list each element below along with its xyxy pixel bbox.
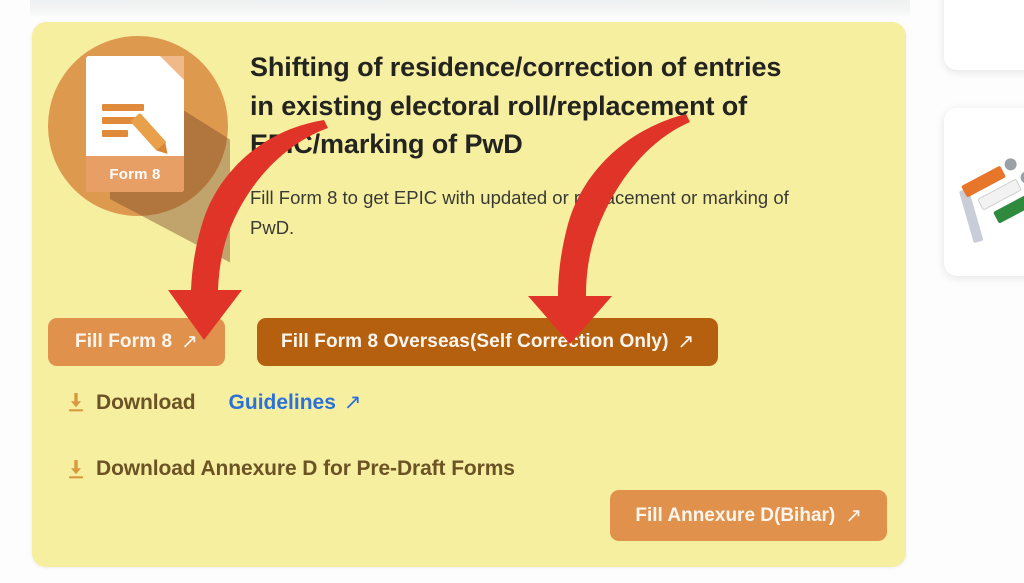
page-root: Form 8 Shifting of residence/correction … bbox=[0, 0, 1024, 583]
form-8-document-icon: Form 8 bbox=[48, 36, 240, 228]
download-annexure-row: Download Annexure D for Pre-Draft Forms bbox=[68, 457, 515, 481]
side-card-blue-icon[interactable] bbox=[944, 0, 1024, 70]
download-annexure-link[interactable]: Download Annexure D for Pre-Draft Forms bbox=[68, 457, 515, 481]
primary-action-row: Fill Form 8 ↗ Fill Form 8 Overseas(Self … bbox=[48, 318, 718, 366]
form-8-card: Form 8 Shifting of residence/correction … bbox=[32, 22, 906, 567]
guidelines-link-label: Guidelines bbox=[229, 391, 336, 415]
form-8-label: Form 8 bbox=[109, 166, 160, 183]
guidelines-link[interactable]: Guidelines ↗ bbox=[229, 390, 362, 415]
fill-annexure-d-bihar-button-label: Fill Annexure D(Bihar) bbox=[635, 505, 835, 527]
eci-logo-icon bbox=[951, 137, 1024, 249]
card-content: Shifting of residence/correction of entr… bbox=[250, 48, 810, 243]
download-annexure-link-label: Download Annexure D for Pre-Draft Forms bbox=[96, 457, 515, 481]
document-shape: Form 8 bbox=[86, 56, 184, 192]
eci-logo-dot-1 bbox=[1003, 156, 1019, 172]
fill-form-8-overseas-button[interactable]: Fill Form 8 Overseas(Self Correction Onl… bbox=[257, 318, 718, 366]
fill-form-8-button-label: Fill Form 8 bbox=[75, 331, 172, 353]
top-gray-band bbox=[30, 0, 910, 16]
external-link-arrow-icon: ↗ bbox=[845, 503, 862, 528]
download-link[interactable]: Download bbox=[68, 391, 196, 415]
external-link-arrow-icon: ↗ bbox=[678, 332, 695, 352]
download-icon bbox=[68, 460, 84, 479]
external-link-arrow-icon: ↗ bbox=[344, 390, 362, 415]
download-link-label: Download bbox=[96, 391, 196, 415]
download-links-row: Download Guidelines ↗ bbox=[68, 390, 362, 415]
download-icon bbox=[68, 393, 84, 412]
external-link-arrow-icon: ↗ bbox=[181, 332, 198, 352]
form-8-label-band: Form 8 bbox=[86, 156, 184, 192]
card-description: Fill Form 8 to get EPIC with updated or … bbox=[250, 183, 795, 243]
fill-form-8-button[interactable]: Fill Form 8 ↗ bbox=[48, 318, 225, 366]
fill-annexure-d-bihar-button[interactable]: Fill Annexure D(Bihar) ↗ bbox=[610, 490, 887, 541]
page-fold-corner bbox=[160, 56, 184, 80]
fill-form-8-overseas-button-label: Fill Form 8 Overseas(Self Correction Onl… bbox=[281, 331, 668, 353]
side-card-eci-logo[interactable] bbox=[944, 108, 1024, 276]
card-title: Shifting of residence/correction of entr… bbox=[250, 48, 810, 164]
eci-logo-dot-2 bbox=[1018, 169, 1024, 185]
